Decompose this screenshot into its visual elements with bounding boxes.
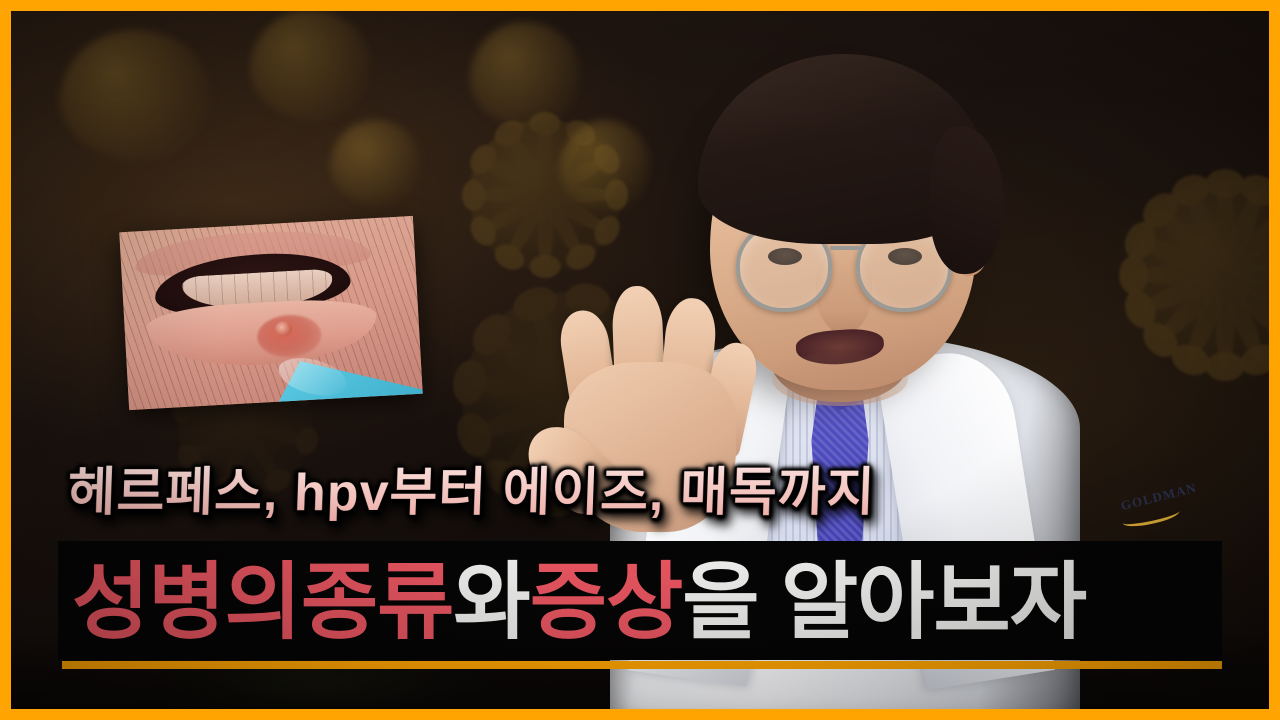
background-blob: [60, 30, 210, 160]
accent-underline-bar: [62, 661, 1222, 669]
chin: [772, 352, 908, 406]
title-segment: 와: [453, 560, 529, 644]
thumbnail-canvas: GOLDMAN 헤르페스, hpv부터 에이즈, 매독까지 성병의 종류 와 증…: [0, 0, 1280, 720]
title-segment: 증상: [530, 560, 683, 644]
title-segment: 을 알아보자: [682, 560, 1086, 644]
hair-side: [930, 126, 1004, 274]
inset-photo-herpes-lip: [119, 216, 422, 410]
eyeglasses-bridge: [830, 246, 860, 250]
subtitle-text: 헤르페스, hpv부터 에이즈, 매독까지: [67, 450, 877, 525]
title-segment: 종류: [301, 560, 454, 644]
background-blob: [250, 10, 370, 120]
title-segment: 성병의: [72, 560, 301, 644]
title-text: 성병의 종류 와 증상 을 알아보자: [72, 548, 1212, 656]
background-blob: [330, 120, 420, 205]
